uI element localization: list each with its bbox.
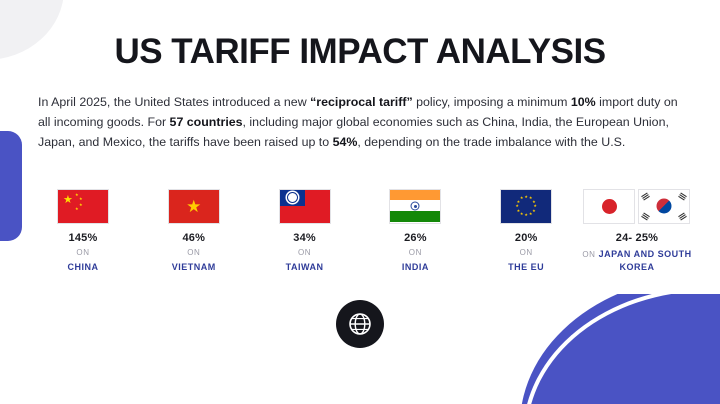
paragraph-bold-minimum-rate: 10%	[571, 95, 596, 109]
country-label-china: CHINA	[28, 261, 138, 273]
southkorea-trigram-1	[642, 192, 651, 200]
flag-wrap-vietnam: ★	[139, 186, 249, 226]
paragraph-bold-max-rate: 54%	[333, 135, 358, 149]
tariff-item-vietnam: ★ 46% ON VIETNAM	[139, 186, 249, 273]
tariff-percent-japan-southkorea: 24- 25%	[582, 232, 692, 244]
globe-icon	[347, 311, 373, 337]
japan-sun-disc	[602, 199, 617, 214]
china-small-star-2: ★	[79, 197, 83, 201]
eu-star-6: ★	[529, 212, 533, 216]
on-label-taiwan: ON	[250, 248, 360, 257]
tariff-item-taiwan: 34% ON TAIWAN	[250, 186, 360, 273]
tariff-item-eu: ★★★★★★★★★★★★ 20% ON THE EU	[471, 186, 581, 273]
tariff-percent-china: 145%	[28, 232, 138, 244]
on-label-vietnam: ON	[139, 248, 249, 257]
china-big-star: ★	[63, 195, 73, 206]
globe-badge[interactable]	[336, 300, 384, 348]
flag-wrap-taiwan	[250, 186, 360, 226]
flag-vietnam-icon: ★	[168, 189, 220, 224]
country-name-japan-southkorea: JAPAN AND SOUTH KOREA	[599, 249, 692, 272]
country-label-vietnam: VIETNAM	[139, 261, 249, 273]
tariff-item-japan-southkorea: 24- 25% ON JAPAN AND SOUTH KOREA	[582, 186, 692, 273]
southkorea-trigram-3	[642, 212, 651, 220]
paragraph-part-5: , depending on the trade imbalance with …	[357, 135, 625, 149]
flag-wrap-eu: ★★★★★★★★★★★★	[471, 186, 581, 226]
flag-taiwan-icon	[279, 189, 331, 224]
paragraph-bold-country-count: 57 countries	[170, 115, 243, 129]
eu-star-7: ★	[524, 213, 528, 217]
southkorea-taeguk	[657, 199, 672, 214]
decorative-shape-left-bar	[0, 131, 22, 241]
taiwan-sun	[287, 192, 298, 203]
southkorea-trigram-2	[679, 192, 688, 200]
tariff-percent-eu: 20%	[471, 232, 581, 244]
eu-star-1: ★	[524, 195, 528, 199]
on-label-eu: ON	[471, 248, 581, 257]
flag-wrap-china: ★ ★ ★ ★ ★	[28, 186, 138, 226]
paragraph-part-1: In April 2025, the United States introdu…	[38, 95, 310, 109]
flag-china-icon: ★ ★ ★ ★ ★	[57, 189, 109, 224]
eu-star-10: ★	[515, 204, 519, 208]
china-small-star-3: ★	[79, 203, 83, 207]
india-ashoka-chakra	[411, 202, 420, 211]
flag-southkorea-icon	[638, 189, 690, 224]
southkorea-trigram-4	[679, 212, 688, 220]
eu-star-12: ★	[520, 196, 524, 200]
on-label-india: ON	[360, 248, 470, 257]
taiwan-canton	[280, 190, 305, 206]
slide-canvas: US TARIFF IMPACT ANALYSIS In April 2025,…	[0, 0, 720, 404]
india-band-green	[390, 211, 440, 222]
china-small-star-4: ★	[75, 207, 79, 211]
vietnam-star: ★	[186, 198, 201, 215]
india-band-saffron	[390, 190, 440, 201]
country-label-taiwan: TAIWAN	[250, 261, 360, 273]
tariff-item-india: 26% ON INDIA	[360, 186, 470, 273]
tariff-percent-vietnam: 46%	[139, 232, 249, 244]
decorative-shape-bottom-right	[520, 294, 720, 404]
tariff-flag-row: ★ ★ ★ ★ ★ 145% ON CHINA ★ 46% ON VIETNAM	[28, 186, 692, 273]
intro-paragraph: In April 2025, the United States introdu…	[38, 92, 683, 152]
paragraph-bold-reciprocal-tariff: “reciprocal tariff”	[310, 95, 413, 109]
page-title: US TARIFF IMPACT ANALYSIS	[0, 34, 720, 69]
eu-star-9: ★	[517, 209, 521, 213]
country-label-eu: THE EU	[471, 261, 581, 273]
tariff-percent-india: 26%	[360, 232, 470, 244]
flag-india-icon	[389, 189, 441, 224]
flag-eu-icon: ★★★★★★★★★★★★	[500, 189, 552, 224]
country-label-india: INDIA	[360, 261, 470, 273]
tariff-percent-taiwan: 34%	[250, 232, 360, 244]
flag-wrap-japan-southkorea	[582, 186, 692, 226]
flag-wrap-india	[360, 186, 470, 226]
on-label-china: ON	[28, 248, 138, 257]
country-label-japan-southkorea: ON JAPAN AND SOUTH KOREA	[582, 248, 692, 273]
flag-japan-icon	[583, 189, 635, 224]
tariff-item-china: ★ ★ ★ ★ ★ 145% ON CHINA	[28, 186, 138, 273]
paragraph-part-2: policy, imposing a minimum	[413, 95, 571, 109]
on-label-japan-southkorea: ON	[582, 250, 595, 259]
